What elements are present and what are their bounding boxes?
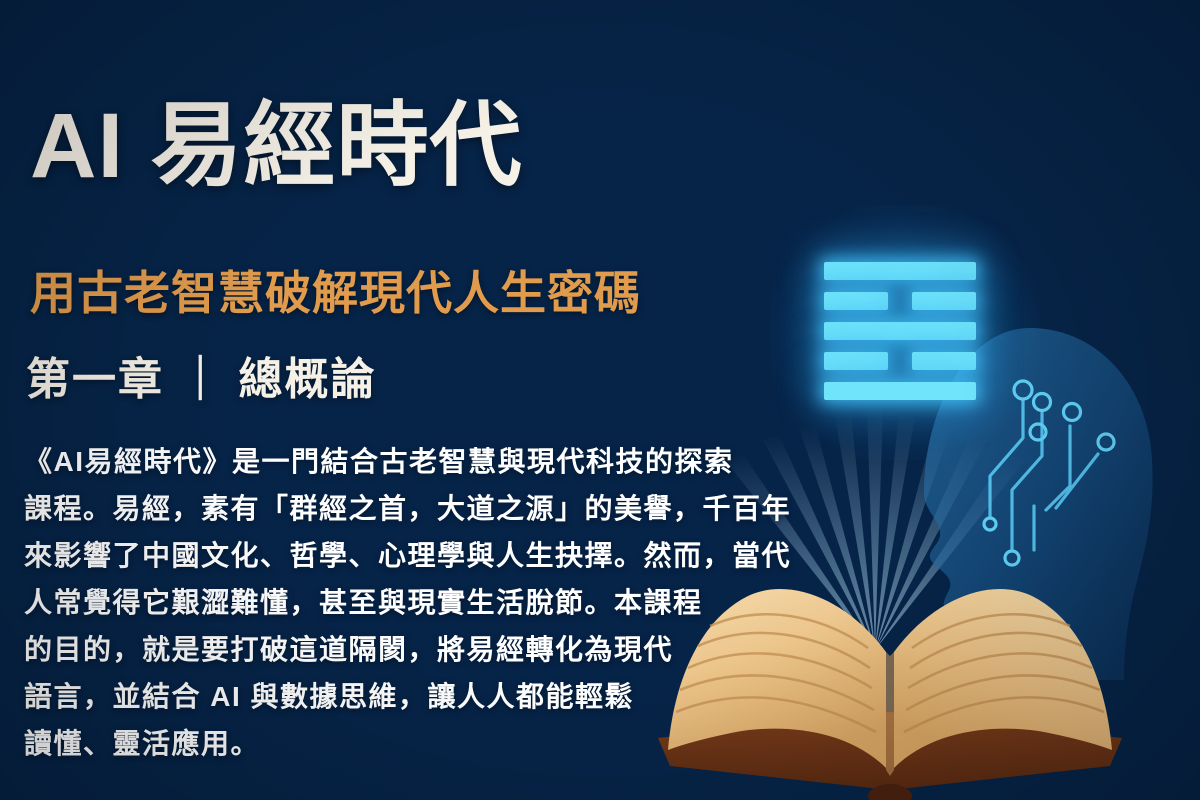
body-line: 讀懂、靈活應用。 <box>24 730 814 758</box>
hexagram-line-5 <box>824 382 976 400</box>
hexagram-line-3 <box>824 322 976 340</box>
body-line: 來影響了中國文化、哲學、心理學與人生抉擇。然而，當代 <box>24 542 814 570</box>
hexagram-symbol <box>824 262 976 402</box>
body-paragraph: 《AI易經時代》是一門結合古老智慧與現代科技的探索 課程。易經，素有「群經之首，… <box>24 448 814 777</box>
hexagram-line-2 <box>824 292 976 310</box>
page-subtitle: 用古老智慧破解現代人生密碼 <box>30 268 641 319</box>
body-line: 的目的，就是要打破這道隔閡，將易經轉化為現代 <box>24 636 814 664</box>
text-column: AI 易經時代 用古老智慧破解現代人生密碼 第一章 ｜ 總概論 《AI易經時代》… <box>0 0 830 800</box>
body-line: 語言，並結合 AI 與數據思維，讓人人都能輕鬆 <box>24 683 814 711</box>
chapter-heading: 第一章 ｜ 總概論 <box>26 356 376 404</box>
slide-canvas: AI 易經時代 用古老智慧破解現代人生密碼 第一章 ｜ 總概論 《AI易經時代》… <box>0 0 1200 800</box>
body-line: 《AI易經時代》是一門結合古老智慧與現代科技的探索 <box>24 448 814 476</box>
body-line: 課程。易經，素有「群經之首，大道之源」的美譽，千百年 <box>24 495 814 523</box>
body-line: 人常覺得它艱澀難懂，甚至與現實生活脫節。本課程 <box>24 589 814 617</box>
hexagram-line-1 <box>824 262 976 280</box>
hexagram-line-4 <box>824 352 976 370</box>
page-title: AI 易經時代 <box>30 98 523 195</box>
